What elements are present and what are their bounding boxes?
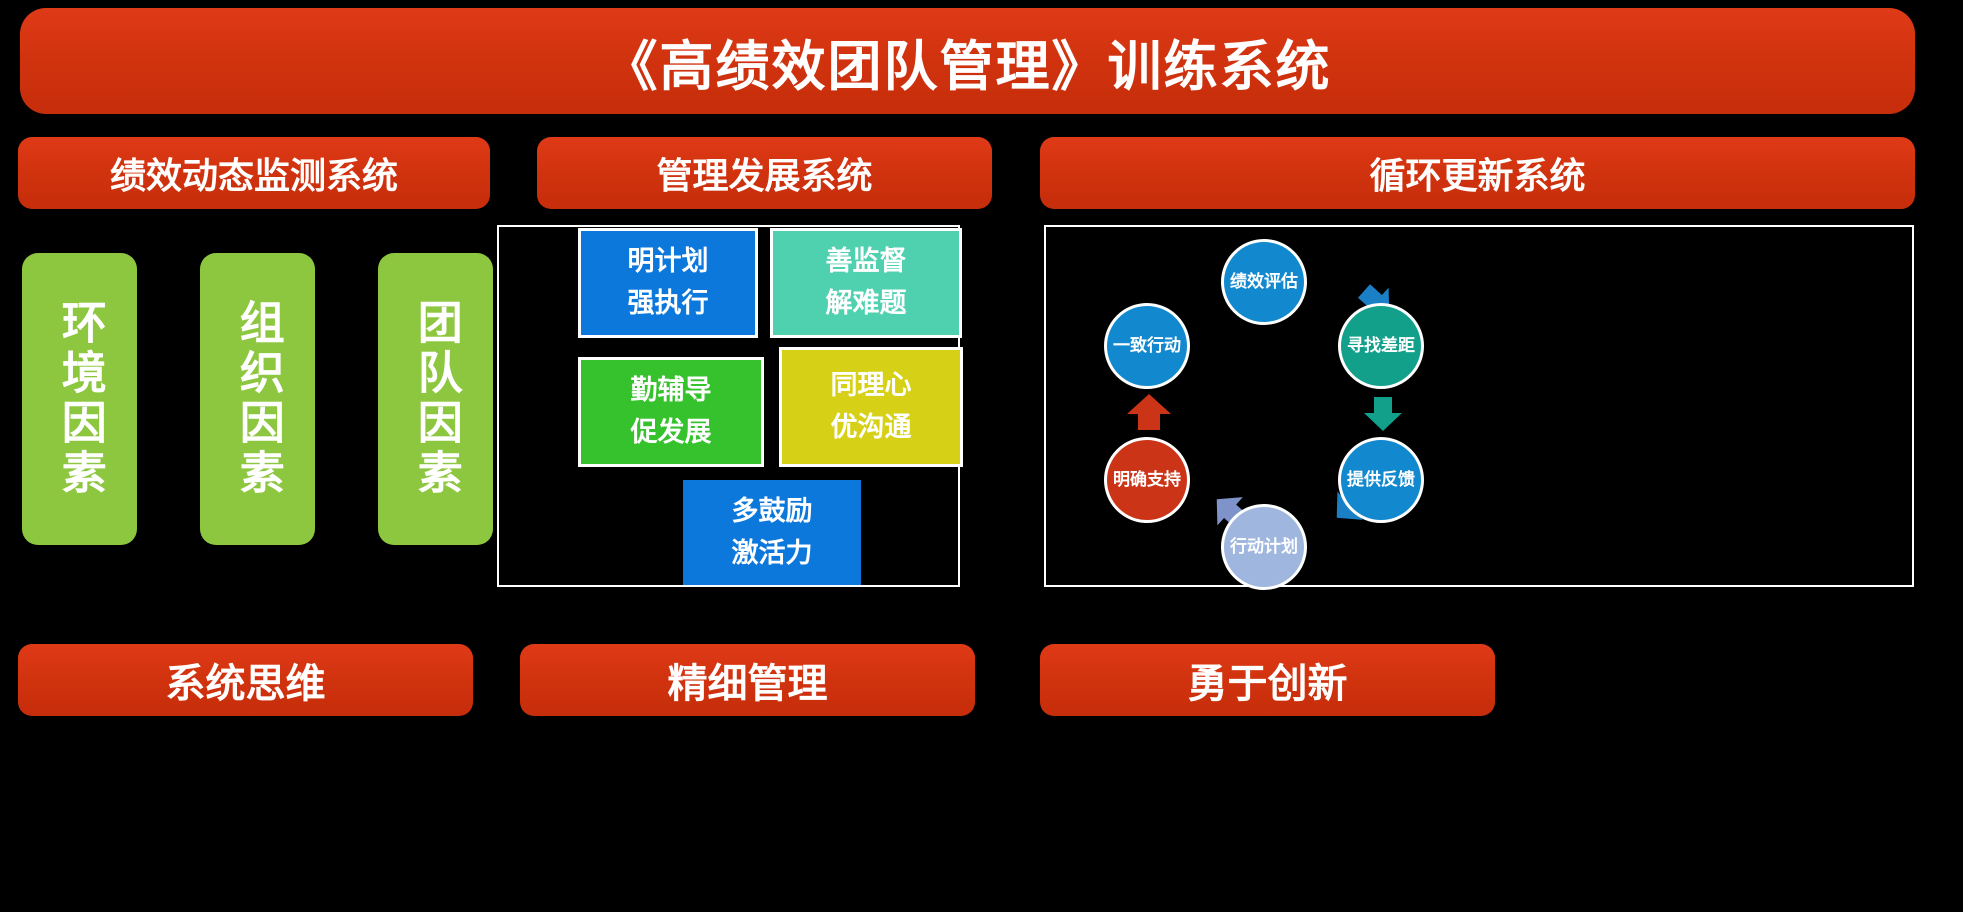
cycle-node-find-gap-label: 寻找差距 (1347, 335, 1415, 357)
cycle-diagram-frame (1044, 225, 1914, 587)
section-header-cycle-renewal: 循环更新系统 (1040, 137, 1915, 209)
arrow-support-to-align (1127, 394, 1171, 430)
dev-cell-coach-develop-line2: 促发展 (631, 412, 712, 454)
cycle-node-clear-support-label: 明确支持 (1113, 469, 1181, 491)
cycle-node-performance-evaluation: 绩效评估 (1221, 239, 1307, 325)
cycle-node-provide-feedback-label: 提供反馈 (1347, 469, 1415, 491)
cycle-node-aligned-action: 一致行动 (1104, 303, 1190, 389)
dev-cell-encourage-energize-line1: 多鼓励 (732, 491, 813, 533)
factor-card-environment-label: 环境因素 (55, 299, 104, 499)
dev-cell-supervise-solve-line2: 解难题 (826, 283, 907, 325)
cycle-node-action-plan-label: 行动计划 (1230, 536, 1298, 558)
cycle-node-aligned-action-label: 一致行动 (1113, 335, 1181, 357)
dev-cell-coach-develop: 勤辅导 促发展 (578, 357, 764, 467)
factor-card-team: 团队因素 (378, 253, 493, 545)
dev-cell-plan-execute-line2: 强执行 (628, 283, 709, 325)
cycle-node-find-gap: 寻找差距 (1338, 303, 1424, 389)
cycle-node-action-plan: 行动计划 (1221, 504, 1307, 590)
dev-cell-encourage-energize-line2: 激活力 (732, 533, 813, 575)
cycle-arrows-group (1046, 227, 1916, 589)
dev-cell-empathy-communicate: 同理心 优沟通 (779, 347, 963, 467)
dev-cell-coach-develop-line1: 勤辅导 (631, 370, 712, 412)
cycle-node-provide-feedback: 提供反馈 (1338, 437, 1424, 523)
factor-card-organization: 组织因素 (200, 253, 315, 545)
dev-cell-plan-execute: 明计划 强执行 (578, 228, 758, 338)
dev-cell-encourage-energize: 多鼓励 激活力 (683, 480, 861, 585)
arrow-gap-to-feedback (1364, 397, 1402, 431)
dev-cell-empathy-communicate-line2: 优沟通 (831, 407, 912, 449)
dev-cell-supervise-solve: 善监督 解难题 (770, 228, 962, 338)
dev-cell-plan-execute-line1: 明计划 (628, 241, 709, 283)
factor-card-environment: 环境因素 (22, 253, 137, 545)
cycle-node-performance-evaluation-label: 绩效评估 (1230, 271, 1298, 293)
page-title: 《高绩效团队管理》训练系统 (20, 8, 1915, 114)
bottom-banner-systems-thinking: 系统思维 (18, 644, 473, 716)
dev-cell-supervise-solve-line1: 善监督 (826, 241, 907, 283)
cycle-node-clear-support: 明确支持 (1104, 437, 1190, 523)
factor-card-team-label: 团队因素 (411, 299, 460, 499)
section-header-management-development: 管理发展系统 (537, 137, 992, 209)
section-header-performance-monitoring: 绩效动态监测系统 (18, 137, 490, 209)
factor-card-organization-label: 组织因素 (233, 299, 282, 499)
dev-cell-empathy-communicate-line1: 同理心 (831, 365, 912, 407)
bottom-banner-refined-management: 精细管理 (520, 644, 975, 716)
bottom-banner-brave-innovation: 勇于创新 (1040, 644, 1495, 716)
